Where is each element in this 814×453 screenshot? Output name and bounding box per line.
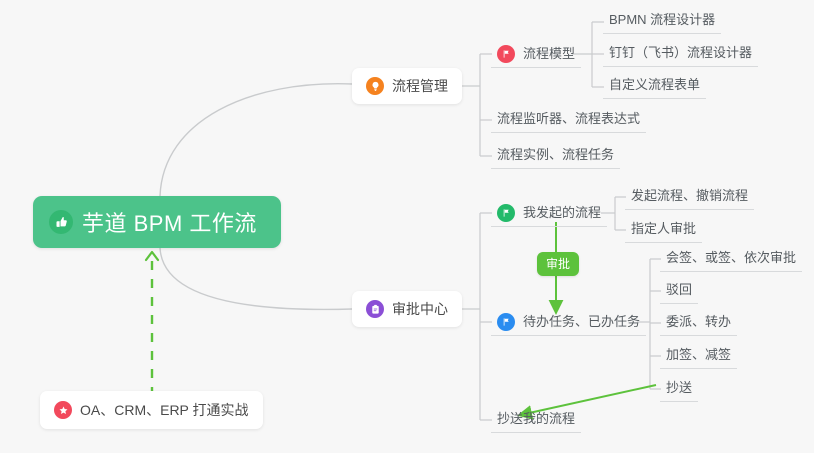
leaf-reject[interactable]: 驳回 — [660, 282, 698, 304]
leaf-cc-my-process[interactable]: 抄送我的流程 — [491, 411, 581, 433]
branch-process-management[interactable]: 流程管理 — [352, 68, 462, 104]
branch-label: 审批中心 — [392, 299, 448, 319]
leaf-custom-form[interactable]: 自定义流程表单 — [603, 77, 706, 99]
branch-approval-center[interactable]: 审批中心 — [352, 291, 462, 327]
leaf-add-remove-sign[interactable]: 加签、减签 — [660, 347, 737, 369]
lightbulb-icon — [366, 77, 384, 95]
mindmap-canvas: 芋道 BPM 工作流 流程管理 流程模型 BPMN 流程设计器 钉钉（飞书）流程… — [0, 0, 814, 453]
root-label: 芋道 BPM 工作流 — [82, 206, 257, 238]
leaf-countersign[interactable]: 会签、或签、依次审批 — [660, 250, 802, 272]
star-icon — [54, 401, 72, 419]
thumbs-up-icon — [49, 210, 73, 234]
leaf-cc[interactable]: 抄送 — [660, 380, 698, 402]
leaf-process-listener[interactable]: 流程监听器、流程表达式 — [491, 111, 646, 133]
bottom-note-label: OA、CRM、ERP 打通实战 — [80, 400, 249, 420]
approve-pill: 审批 — [537, 252, 579, 276]
root-node[interactable]: 芋道 BPM 工作流 — [33, 196, 281, 248]
leaf-my-started-process[interactable]: 我发起的流程 — [491, 204, 607, 227]
leaf-delegate-transfer[interactable]: 委派、转办 — [660, 314, 737, 336]
leaf-dingtalk-feishu-designer[interactable]: 钉钉（飞书）流程设计器 — [603, 45, 758, 67]
leaf-assignee-approval[interactable]: 指定人审批 — [625, 221, 702, 243]
flag-icon-blue — [497, 313, 515, 331]
leaf-process-instance[interactable]: 流程实例、流程任务 — [491, 147, 620, 169]
branch-label: 流程管理 — [392, 76, 448, 96]
leaf-label: 待办任务、已办任务 — [523, 314, 640, 330]
leaf-todo-done-task[interactable]: 待办任务、已办任务 — [491, 313, 646, 336]
flag-icon-red — [497, 45, 515, 63]
leaf-label: 流程模型 — [523, 46, 575, 62]
flag-icon-green — [497, 204, 515, 222]
leaf-process-model[interactable]: 流程模型 — [491, 45, 581, 68]
leaf-label: 我发起的流程 — [523, 205, 601, 221]
bottom-note-card[interactable]: OA、CRM、ERP 打通实战 — [40, 391, 263, 429]
leaf-start-cancel-process[interactable]: 发起流程、撤销流程 — [625, 188, 754, 210]
clipboard-icon — [366, 300, 384, 318]
leaf-bpmn-designer[interactable]: BPMN 流程设计器 — [603, 12, 721, 34]
